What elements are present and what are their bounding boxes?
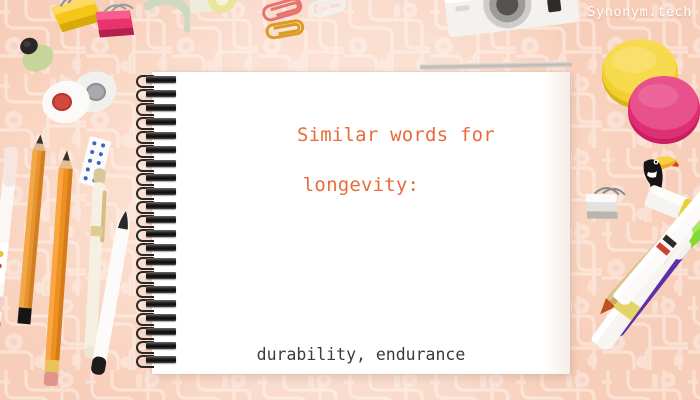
white-camera (436, 0, 586, 46)
synonym-list: durability, endurance permanence, lifeti… (202, 292, 520, 400)
top-center-desk-items (190, 0, 460, 44)
synonym-line: durability, endurance (202, 342, 520, 367)
macarons (596, 34, 700, 146)
screenshot-stage: Similar words for longevity: durability,… (0, 0, 700, 400)
right-desk-items (560, 180, 700, 400)
title-prefix: Similar words for (297, 124, 495, 146)
page-title: Similar words for longevity: (227, 98, 495, 248)
brand-logo[interactable]: Synonym.tech (587, 4, 692, 20)
pink-macaron (628, 76, 700, 144)
keyword: longevity: (227, 173, 495, 198)
page-content: Similar words for longevity: durability,… (152, 72, 570, 374)
